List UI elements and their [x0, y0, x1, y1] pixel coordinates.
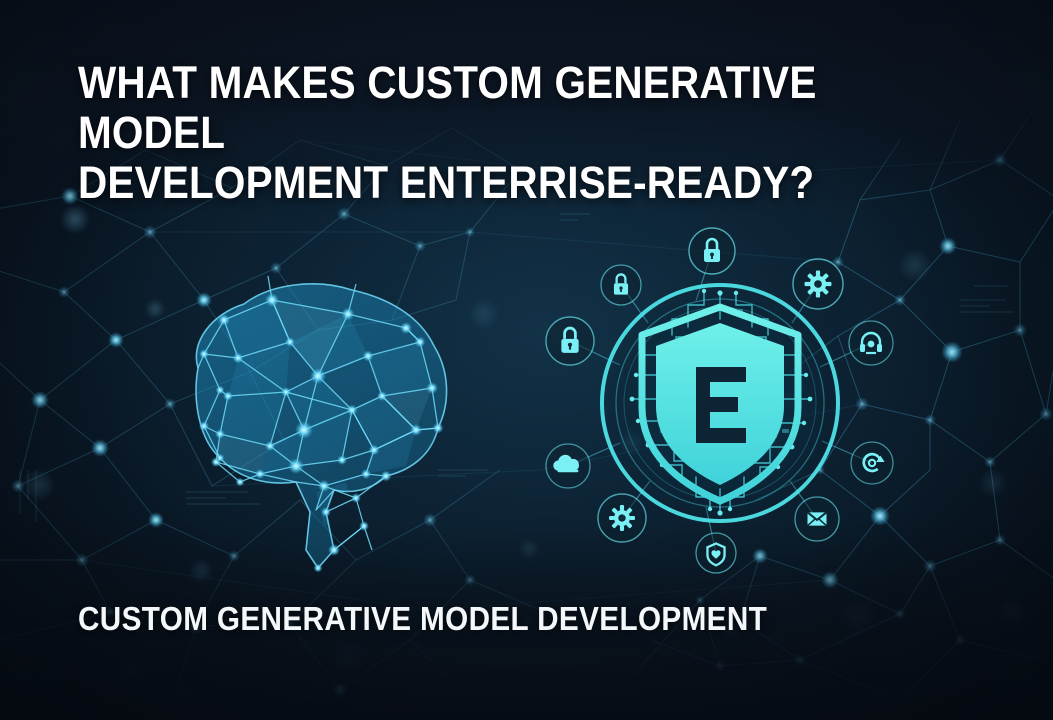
headset-icon	[849, 321, 893, 365]
gear-icon	[598, 494, 646, 542]
lock-icon	[546, 317, 594, 365]
lock-icon	[689, 228, 735, 274]
shield-heart-icon	[696, 533, 736, 573]
page-title: WHAT MAKES CUSTOM GENERATIVE MODEL DEVEL…	[78, 58, 888, 208]
gear-icon	[793, 259, 843, 309]
envelope-icon	[795, 497, 839, 541]
cloud-icon	[546, 444, 590, 488]
refresh-cycle-icon	[851, 442, 893, 484]
page-subtitle: CUSTOM GENERATIVE MODEL DEVELOPMENT	[78, 600, 852, 638]
poster-canvas: WHAT MAKES CUSTOM GENERATIVE MODEL DEVEL…	[0, 0, 1053, 720]
lock-icon	[601, 265, 641, 305]
